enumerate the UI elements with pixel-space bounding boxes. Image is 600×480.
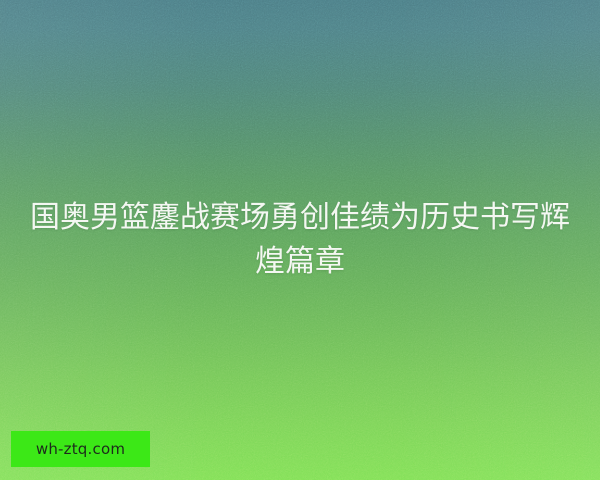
watermark-url-text: wh-ztq.com	[36, 442, 125, 457]
image-canvas: 国奥男篮鏖战赛场勇创佳绩为历史书写辉煌篇章 wh-ztq.com	[0, 0, 600, 480]
headline-text: 国奥男篮鏖战赛场勇创佳绩为历史书写辉煌篇章	[0, 196, 600, 284]
watermark-badge: wh-ztq.com	[11, 431, 150, 467]
